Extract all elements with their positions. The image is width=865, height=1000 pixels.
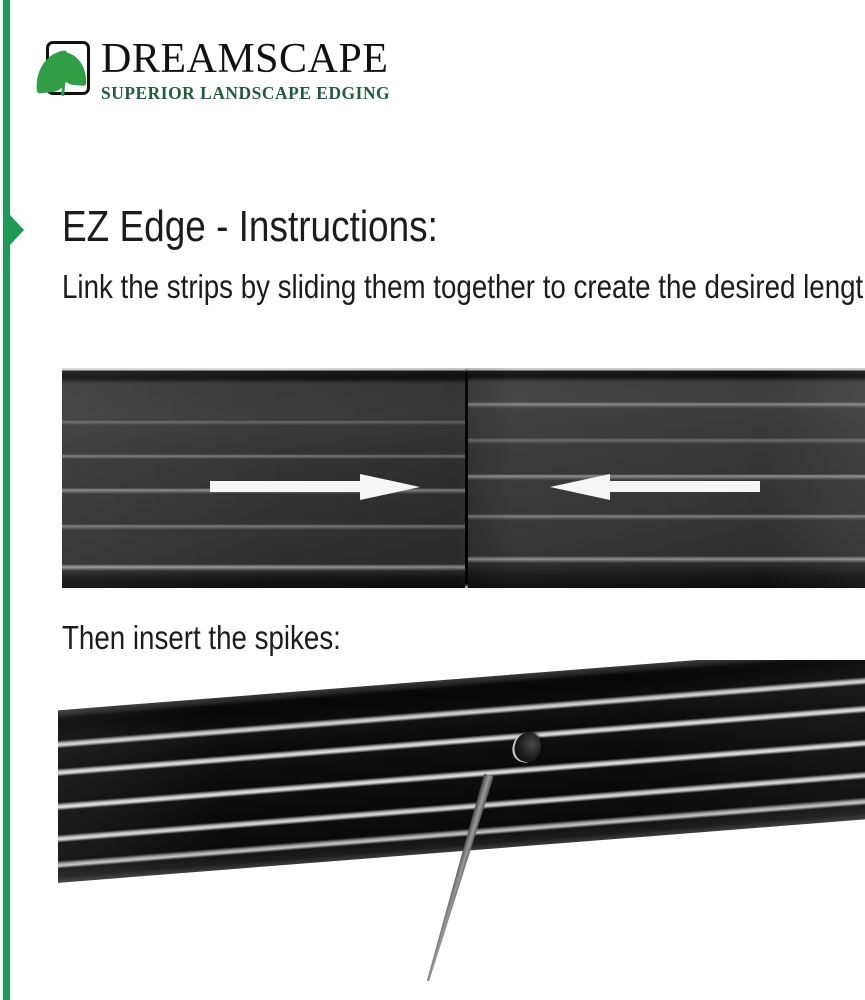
brand-name: DREAMSCAPE (101, 36, 413, 82)
leaf-icon (33, 38, 97, 102)
step-two-text: Then insert the spikes: (62, 616, 341, 660)
arrow-shaft (596, 481, 760, 492)
edging-strip-angled (58, 660, 865, 884)
brand-logo: DREAMSCAPE SUPERIOR LANDSCAPE EDGING (33, 36, 413, 108)
linking-strips-photo (62, 368, 865, 588)
brand-wordmark: DREAMSCAPE SUPERIOR LANDSCAPE EDGING (101, 36, 413, 103)
brand-tagline: SUPERIOR LANDSCAPE EDGING (101, 83, 413, 103)
left-accent-bar (3, 0, 10, 1000)
step-one-text: Link the strips by sliding them together… (62, 264, 865, 310)
strip-seam (465, 368, 468, 588)
strip-sheen-overlay (58, 660, 865, 884)
arrow-shaft (210, 481, 375, 492)
arrow-head (360, 474, 420, 500)
section-pointer-icon (10, 215, 24, 245)
arrow-right-icon (210, 474, 420, 500)
spike-insertion-photo (58, 660, 865, 1000)
page-title: EZ Edge - Instructions: (62, 200, 438, 254)
arrow-left-icon (550, 474, 760, 500)
